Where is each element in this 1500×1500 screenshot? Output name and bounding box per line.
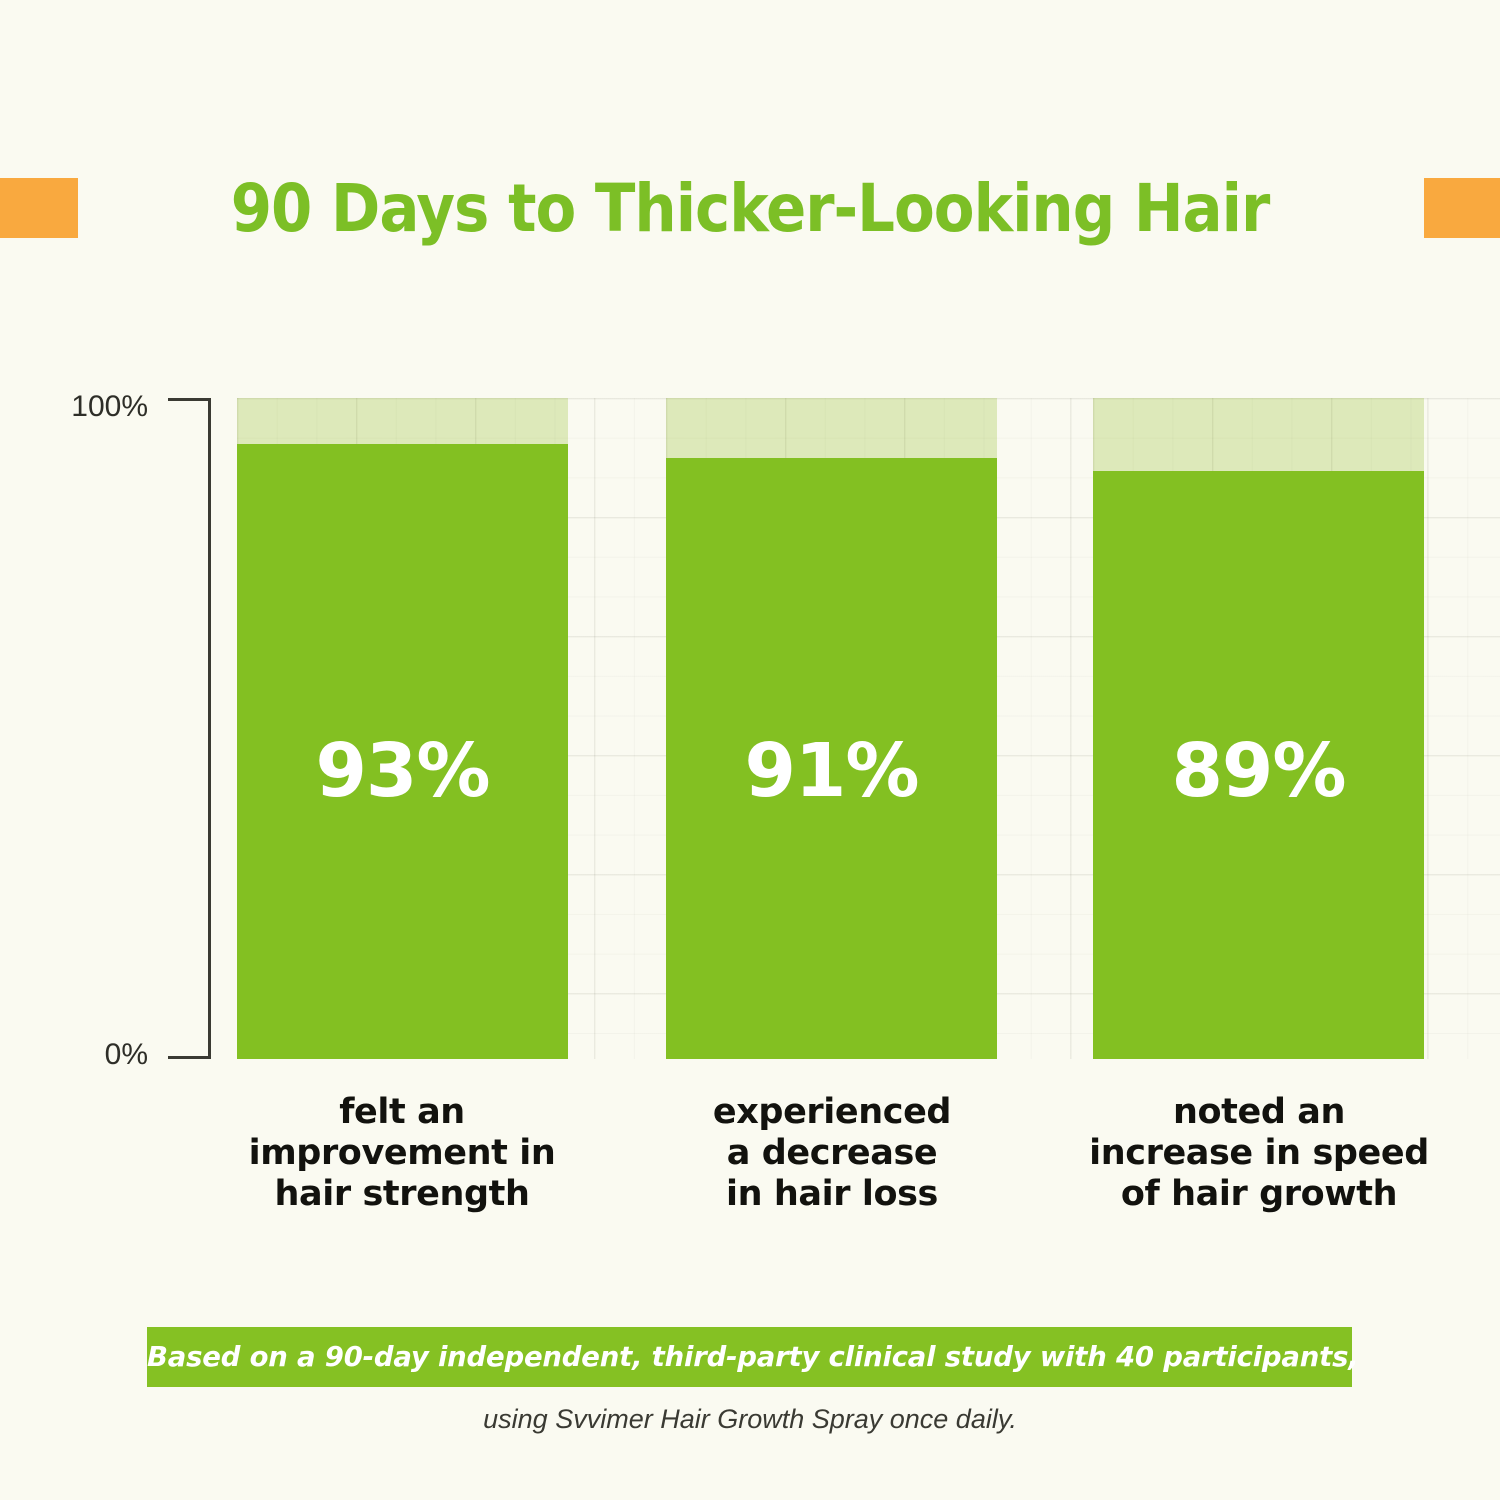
- footer-note: using Svvimer Hair Growth Spray once dai…: [0, 1404, 1500, 1435]
- y-axis-label-100: 100%: [71, 392, 148, 422]
- bar-caption-3: noted an increase in speed of hair growt…: [1059, 1092, 1459, 1215]
- bar-column-3[interactable]: 89%: [1093, 398, 1424, 1059]
- bar-caption-1: felt an improvement in hair strength: [202, 1092, 602, 1215]
- bar-caption-2: experienced a decrease in hair loss: [632, 1092, 1032, 1215]
- bar-chart: 100% 0% 93% 91% 89% felt an improvement …: [0, 0, 1500, 1500]
- y-axis-tick-100: [168, 398, 210, 401]
- bar-column-2[interactable]: 91%: [666, 398, 997, 1059]
- y-axis-line: [208, 398, 211, 1059]
- bar-column-1[interactable]: 93%: [237, 398, 568, 1059]
- bar-value-label-1: 93%: [237, 728, 568, 814]
- y-axis-tick-0: [168, 1056, 210, 1059]
- footer-banner: Based on a 90-day independent, third-par…: [147, 1327, 1352, 1387]
- footer-banner-text: Based on a 90-day independent, third-par…: [147, 1327, 1352, 1387]
- bar-value-label-3: 89%: [1093, 728, 1424, 814]
- bar-value-label-2: 91%: [666, 728, 997, 814]
- y-axis-bracket: [168, 398, 210, 1059]
- y-axis-label-0: 0%: [105, 1040, 148, 1070]
